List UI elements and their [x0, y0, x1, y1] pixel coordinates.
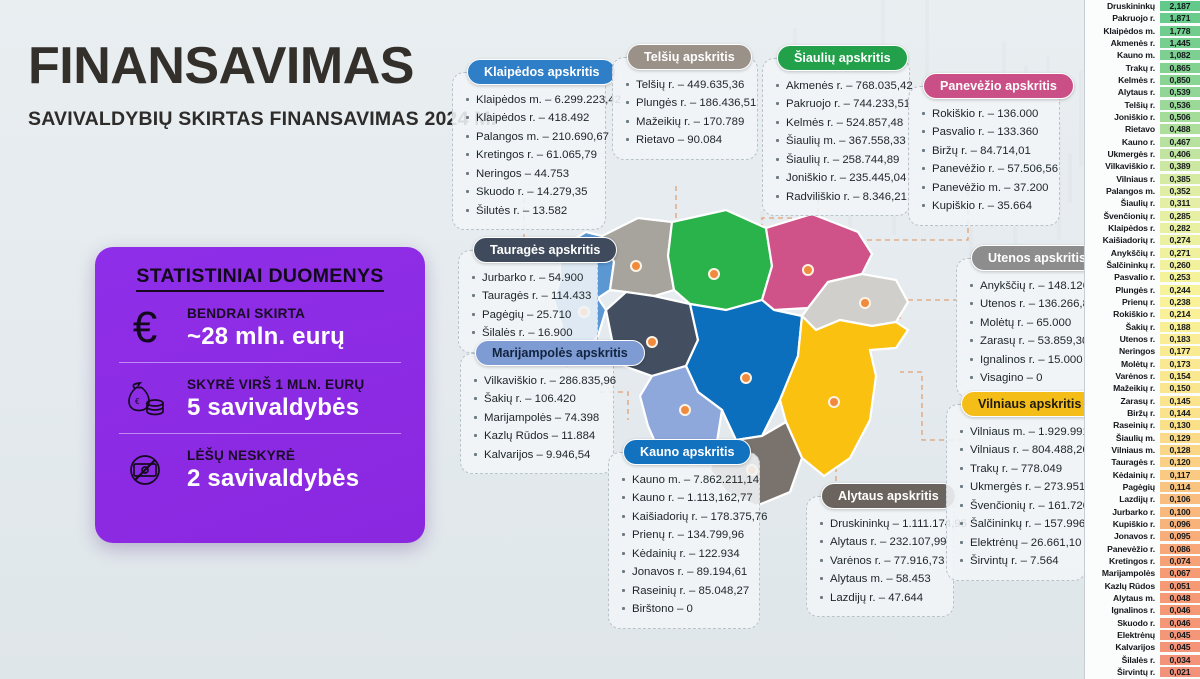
list-item: Rietavo – 90.084 [625, 131, 747, 149]
table-row[interactable]: Kauno m.1,082 [1085, 49, 1200, 61]
list-item: Kupiškio r. – 35.664 [921, 197, 1049, 215]
table-row[interactable]: Druskininkų2,187 [1085, 0, 1200, 12]
region-pill-klaipedos: Klaipėdos apskritis [467, 59, 616, 85]
table-cell-name: Utenos r. [1085, 334, 1160, 344]
list-item: Vilniaus m. – 1.929.991,93 [959, 423, 1075, 441]
table-cell-value: 0,100 [1160, 507, 1200, 517]
list-item: Pasvalio r. – 133.360 [921, 123, 1049, 141]
table-cell-value: 0,106 [1160, 494, 1200, 504]
table-cell-name: Zarasų r. [1085, 396, 1160, 406]
list-item: Kazlų Rūdos – 11.884 [473, 427, 603, 445]
table-row[interactable]: Prienų r.0,238 [1085, 296, 1200, 308]
list-item: Elektrėnų – 26.661,10 [959, 534, 1075, 552]
table-cell-value: 1,778 [1160, 26, 1200, 36]
table-cell-name: Neringos [1085, 346, 1160, 356]
table-cell-value: 0,850 [1160, 75, 1200, 85]
table-cell-name: Šakių r. [1085, 322, 1160, 332]
statistics-card: STATISTINIAI DUOMENYS € BENDRAI SKIRTA ~… [95, 247, 425, 543]
table-cell-value: 0,045 [1160, 642, 1200, 652]
table-cell-name: Trakų r. [1085, 63, 1160, 73]
table-row[interactable]: Trakų r.0,865 [1085, 62, 1200, 74]
table-row[interactable]: Ignalinos r.0,046 [1085, 604, 1200, 616]
table-row[interactable]: Biržų r.0,144 [1085, 407, 1200, 419]
table-cell-value: 0,311 [1160, 198, 1200, 208]
region-pill-alytaus: Alytaus apskritis [821, 483, 956, 509]
list-item: Ukmergės r. – 273.951 [959, 478, 1075, 496]
list-item: Palangos m. – 210.690,67 [465, 128, 595, 146]
table-cell-value: 0,045 [1160, 630, 1200, 640]
region-pill-telsiu: Telšių apskritis [627, 44, 752, 70]
table-row[interactable]: Palangos m.0,352 [1085, 185, 1200, 197]
table-row[interactable]: Anykščių r.0,271 [1085, 247, 1200, 259]
table-cell-name: Kėdainių r. [1085, 470, 1160, 480]
list-item: Šiaulių m. – 367.558,33 [775, 132, 899, 150]
table-row[interactable]: Vilniaus m.0,128 [1085, 444, 1200, 456]
table-cell-name: Rietavo [1085, 124, 1160, 134]
table-cell-value: 0,282 [1160, 223, 1200, 233]
list-item: Šalčininkų r. – 157.996,29 [959, 515, 1075, 533]
table-cell-value: 0,488 [1160, 124, 1200, 134]
list-item: Alytaus r. – 232.107,99 [819, 533, 943, 551]
ranking-table[interactable]: Druskininkų2,187Pakruojo r.1,871Klaipėdo… [1084, 0, 1200, 679]
table-cell-value: 0,285 [1160, 211, 1200, 221]
list-item: Druskininkų – 1.111.174,95 [819, 515, 943, 533]
table-row[interactable]: Varėnos r.0,154 [1085, 370, 1200, 382]
stat-text: SKYRĖ VIRŠ 1 MLN. EURŲ 5 savivaldybės [187, 377, 403, 422]
table-cell-name: Kelmės r. [1085, 75, 1160, 85]
list-item: Marijampolės – 74.398 [473, 409, 603, 427]
table-cell-value: 0,120 [1160, 457, 1200, 467]
table-cell-name: Kaišiadorių r. [1085, 235, 1160, 245]
list-item: Neringos – 44.753 [465, 165, 595, 183]
table-row[interactable]: Švenčionių r.0,285 [1085, 210, 1200, 222]
table-cell-value: 0,051 [1160, 581, 1200, 591]
table-cell-value: 0,096 [1160, 519, 1200, 529]
table-cell-value: 1,082 [1160, 50, 1200, 60]
table-row[interactable]: Širvintų r.0,021 [1085, 666, 1200, 678]
table-row[interactable]: Pakruojo r.1,871 [1085, 12, 1200, 24]
list-item: Skuodo r. – 14.279,35 [465, 183, 595, 201]
list-item: Jurbarko r. – 54.900 [471, 269, 587, 287]
table-cell-value: 0,150 [1160, 383, 1200, 393]
region-list: Akmenės r. – 768.035,42 Pakruojo r. – 74… [775, 77, 899, 206]
table-cell-name: Vilniaus m. [1085, 445, 1160, 455]
list-item: Jonavos r. – 89.194,61 [621, 563, 749, 581]
table-cell-value: 0,048 [1160, 593, 1200, 603]
list-item: Šiaulių r. – 258.744,89 [775, 151, 899, 169]
table-cell-value: 0,095 [1160, 531, 1200, 541]
table-cell-name: Pakruojo r. [1085, 13, 1160, 23]
list-item: Akmenės r. – 768.035,42 [775, 77, 899, 95]
region-card-alytaus[interactable]: Alytaus apskritis Druskininkų – 1.111.17… [806, 496, 954, 617]
list-item: Telšių r. – 449.635,36 [625, 76, 747, 94]
list-item: Šakių r. – 106.420 [473, 390, 603, 408]
table-cell-name: Alytaus r. [1085, 87, 1160, 97]
region-card-telsiu[interactable]: Telšių apskritis Telšių r. – 449.635,36 … [612, 57, 758, 160]
table-cell-name: Šalčininkų r. [1085, 260, 1160, 270]
table-row[interactable]: Plungės r.0,244 [1085, 284, 1200, 296]
table-cell-value: 0,260 [1160, 260, 1200, 270]
table-cell-value: 0,214 [1160, 309, 1200, 319]
table-cell-value: 0,067 [1160, 568, 1200, 578]
table-cell-name: Elektrėnų [1085, 630, 1160, 640]
table-row[interactable]: Kauno r.0,467 [1085, 136, 1200, 148]
list-item: Birštono – 0 [621, 600, 749, 618]
table-row[interactable]: Tauragės r.0,120 [1085, 456, 1200, 468]
list-item: Varėnos r. – 77.916,73 [819, 552, 943, 570]
stat-label: BENDRAI SKIRTA [187, 306, 403, 321]
table-cell-name: Tauragės r. [1085, 457, 1160, 467]
table-cell-value: 0,406 [1160, 149, 1200, 159]
stat-text: BENDRAI SKIRTA ~28 mln. eurų [187, 306, 403, 351]
table-row[interactable]: Šiaulių r.0,311 [1085, 197, 1200, 209]
list-item: Kauno m. – 7.862.211,14 [621, 471, 749, 489]
table-cell-name: Kupiškio r. [1085, 519, 1160, 529]
map-dot-vilniaus [829, 397, 839, 407]
table-cell-name: Marijampolės [1085, 568, 1160, 578]
region-card-utenos[interactable]: Utenos apskritis Anykščių r. – 148.126 U… [956, 258, 1088, 398]
table-cell-name: Rokiškio r. [1085, 309, 1160, 319]
table-row[interactable]: Vilniaus r.0,385 [1085, 173, 1200, 185]
list-item: Tauragės r. – 114.433 [471, 287, 587, 305]
table-row[interactable]: Šiaulių m.0,129 [1085, 431, 1200, 443]
table-cell-name: Druskininkų [1085, 1, 1160, 11]
region-pill-panevezio: Panevėžio apskritis [923, 73, 1074, 99]
money-bag-icon: € [117, 373, 173, 425]
list-item: Biržų r. – 84.714,01 [921, 142, 1049, 160]
list-item: Kalvarijos – 9.946,54 [473, 446, 603, 464]
region-card-klaipedos[interactable]: Klaipėdos apskritis Klaipėdos m. – 6.299… [452, 72, 606, 230]
table-row[interactable]: Rokiškio r.0,214 [1085, 308, 1200, 320]
table-row[interactable]: Joniškio r.0,506 [1085, 111, 1200, 123]
table-cell-name: Jonavos r. [1085, 531, 1160, 541]
stat-row-above-1mln: € SKYRĖ VIRŠ 1 MLN. EURŲ 5 savivaldybės [113, 363, 407, 433]
region-pill-marijampoles: Marijampolės apskritis [475, 340, 645, 366]
table-row[interactable]: Kelmės r.0,850 [1085, 74, 1200, 86]
stat-row-no-funding: LĖŠŲ NESKYRĖ 2 savivaldybės [113, 434, 407, 504]
map-dot-siauliu [709, 269, 719, 279]
table-cell-name: Telšių r. [1085, 100, 1160, 110]
table-cell-value: 0,188 [1160, 322, 1200, 332]
table-row[interactable]: Pagėgių0,114 [1085, 481, 1200, 493]
table-row[interactable]: Elektrėnų0,045 [1085, 629, 1200, 641]
stat-label: SKYRĖ VIRŠ 1 MLN. EURŲ [187, 377, 403, 392]
list-item: Rokiškio r. – 136.000 [921, 105, 1049, 123]
region-list: Klaipėdos m. – 6.299.223,42 Klaipėdos r.… [465, 91, 595, 220]
stat-label: LĖŠŲ NESKYRĖ [187, 448, 403, 463]
list-item: Prienų r. – 134.799,96 [621, 526, 749, 544]
table-row[interactable]: Kazlų Rūdos0,051 [1085, 579, 1200, 591]
map-dot-telsiu [631, 261, 641, 271]
table-cell-name: Kauno r. [1085, 137, 1160, 147]
table-cell-name: Akmenės r. [1085, 38, 1160, 48]
list-item: Klaipėdos r. – 418.492 [465, 109, 595, 127]
table-cell-name: Plungės r. [1085, 285, 1160, 295]
table-cell-name: Jurbarko r. [1085, 507, 1160, 517]
region-pill-kauno: Kauno apskritis [623, 439, 751, 465]
table-cell-name: Ignalinos r. [1085, 605, 1160, 615]
stat-value: 5 savivaldybės [187, 394, 403, 422]
table-cell-value: 0,244 [1160, 285, 1200, 295]
list-item: Ignalinos r. – 15.000 [969, 351, 1077, 369]
list-item: Kaišiadorių r. – 178.375,76 [621, 508, 749, 526]
table-cell-value: 0,114 [1160, 482, 1200, 492]
table-cell-value: 0,046 [1160, 605, 1200, 615]
table-cell-name: Ukmergės r. [1085, 149, 1160, 159]
table-cell-value: 0,173 [1160, 359, 1200, 369]
table-cell-value: 1,445 [1160, 38, 1200, 48]
table-cell-value: 0,117 [1160, 470, 1200, 480]
table-row[interactable]: Akmenės r.1,445 [1085, 37, 1200, 49]
table-row[interactable]: Skuodo r.0,046 [1085, 616, 1200, 628]
region-list: Anykščių r. – 148.126 Utenos r. – 136.26… [969, 277, 1077, 388]
table-row[interactable]: Kupiškio r.0,096 [1085, 518, 1200, 530]
stat-value: ~28 mln. eurų [187, 323, 403, 351]
table-row[interactable]: Raseinių r.0,130 [1085, 419, 1200, 431]
table-row[interactable]: Jonavos r.0,095 [1085, 530, 1200, 542]
list-item: Utenos r. – 136.266,80 [969, 295, 1077, 313]
table-cell-value: 0,130 [1160, 420, 1200, 430]
table-cell-name: Pagėgių [1085, 482, 1160, 492]
table-cell-name: Švenčionių r. [1085, 211, 1160, 221]
list-item: Joniškio r. – 235.445,04 [775, 169, 899, 187]
table-cell-value: 0,389 [1160, 161, 1200, 171]
table-row[interactable]: Telšių r.0,536 [1085, 99, 1200, 111]
region-pill-siauliu: Šiaulių apskritis [777, 45, 908, 71]
list-item: Šilutės r. – 13.582 [465, 202, 595, 220]
stat-value: 2 savivaldybės [187, 465, 403, 493]
list-item: Plungės r. – 186.436,51 [625, 94, 747, 112]
table-cell-value: 2,187 [1160, 1, 1200, 11]
table-cell-value: 0,128 [1160, 445, 1200, 455]
region-card-vilniaus[interactable]: Vilniaus apskritis Vilniaus m. – 1.929.9… [946, 404, 1086, 581]
list-item: Alytaus m. – 58.453 [819, 570, 943, 588]
table-row[interactable]: Vilkaviškio r.0,389 [1085, 160, 1200, 172]
list-item: Švenčionių r. – 161.720 [959, 497, 1075, 515]
region-pill-taurages: Tauragės apskritis [473, 237, 617, 263]
page-subtitle: SAVIVALDYBIŲ SKIRTAS FINANSAVIMAS 2024 M… [28, 108, 496, 131]
list-item: Klaipėdos m. – 6.299.223,42 [465, 91, 595, 109]
list-item: Raseinių r. – 85.048,27 [621, 582, 749, 600]
table-cell-value: 0,086 [1160, 544, 1200, 554]
table-cell-name: Kazlų Rūdos [1085, 581, 1160, 591]
table-cell-name: Mažeikių r. [1085, 383, 1160, 393]
list-item: Trakų r. – 778.049 [959, 460, 1075, 478]
table-cell-value: 0,271 [1160, 248, 1200, 258]
stat-row-total: € BENDRAI SKIRTA ~28 mln. eurų [113, 292, 407, 362]
table-cell-value: 0,177 [1160, 346, 1200, 356]
list-item: Pakruojo r. – 744.233,51 [775, 95, 899, 113]
list-item: Zarasų r. – 53.859,30 [969, 332, 1077, 350]
table-cell-name: Šiaulių m. [1085, 433, 1160, 443]
list-item: Visagino – 0 [969, 369, 1077, 387]
map-dot-panevezio [803, 265, 813, 275]
table-row[interactable]: Kaišiadorių r.0,274 [1085, 234, 1200, 246]
region-list: Rokiškio r. – 136.000 Pasvalio r. – 133.… [921, 105, 1049, 216]
table-row[interactable]: Rietavo0,488 [1085, 123, 1200, 135]
table-cell-name: Anykščių r. [1085, 248, 1160, 258]
region-list: Kauno m. – 7.862.211,14 Kauno r. – 1.113… [621, 471, 749, 619]
table-cell-name: Šiaulių r. [1085, 198, 1160, 208]
table-row[interactable]: Kalvarijos0,045 [1085, 641, 1200, 653]
list-item: Lazdijų r. – 47.644 [819, 589, 943, 607]
table-cell-value: 0,074 [1160, 556, 1200, 566]
map-dot-utenos [860, 298, 870, 308]
statistics-title: STATISTINIAI DUOMENYS [136, 265, 383, 292]
list-item: Anykščių r. – 148.126 [969, 277, 1077, 295]
table-cell-name: Kretingos r. [1085, 556, 1160, 566]
map-region-siauliu [668, 210, 772, 310]
page-title: FINANSAVIMAS [28, 40, 496, 92]
region-card-marijampoles[interactable]: Marijampolės apskritis Vilkaviškio r. – … [460, 353, 614, 474]
region-list: Jurbarko r. – 54.900 Tauragės r. – 114.4… [471, 269, 587, 343]
table-row[interactable]: Šakių r.0,188 [1085, 321, 1200, 333]
list-item: Molėtų r. – 65.000 [969, 314, 1077, 332]
table-row[interactable]: Pasvalio r.0,253 [1085, 271, 1200, 283]
table-cell-name: Raseinių r. [1085, 420, 1160, 430]
table-cell-value: 0,865 [1160, 63, 1200, 73]
table-row[interactable]: Šilalės r.0,034 [1085, 653, 1200, 665]
table-cell-value: 0,144 [1160, 408, 1200, 418]
table-cell-name: Klaipėdos m. [1085, 26, 1160, 36]
table-cell-name: Kauno m. [1085, 50, 1160, 60]
table-cell-name: Lazdijų r. [1085, 494, 1160, 504]
map-dot-marijampoles [680, 405, 690, 415]
table-row[interactable]: Jurbarko r.0,100 [1085, 505, 1200, 517]
table-row[interactable]: Mažeikių r.0,150 [1085, 382, 1200, 394]
region-list: Druskininkų – 1.111.174,95 Alytaus r. – … [819, 515, 943, 607]
table-row[interactable]: Alytaus m.0,048 [1085, 592, 1200, 604]
background-bar [1068, 153, 1072, 203]
table-cell-name: Vilkaviškio r. [1085, 161, 1160, 171]
no-money-icon [117, 444, 173, 496]
region-card-taurages[interactable]: Tauragės apskritis Jurbarko r. – 54.900 … [458, 250, 598, 353]
table-cell-value: 0,129 [1160, 433, 1200, 443]
table-cell-name: Vilniaus r. [1085, 174, 1160, 184]
table-cell-value: 0,154 [1160, 371, 1200, 381]
table-row[interactable]: Kretingos r.0,074 [1085, 555, 1200, 567]
table-row[interactable]: Neringos0,177 [1085, 345, 1200, 357]
table-cell-value: 0,274 [1160, 235, 1200, 245]
table-cell-name: Molėtų r. [1085, 359, 1160, 369]
table-cell-name: Prienų r. [1085, 297, 1160, 307]
map-dot-kauno [741, 373, 751, 383]
table-cell-value: 0,385 [1160, 174, 1200, 184]
table-row[interactable]: Klaipėdos m.1,778 [1085, 25, 1200, 37]
table-cell-name: Skuodo r. [1085, 618, 1160, 628]
table-cell-value: 0,352 [1160, 186, 1200, 196]
table-row[interactable]: Zarasų r.0,145 [1085, 395, 1200, 407]
list-item: Širvintų r. – 7.564 [959, 552, 1075, 570]
table-cell-name: Biržų r. [1085, 408, 1160, 418]
table-row[interactable]: Lazdijų r.0,106 [1085, 493, 1200, 505]
table-cell-value: 0,021 [1160, 667, 1200, 677]
table-cell-name: Pasvalio r. [1085, 272, 1160, 282]
table-cell-value: 0,536 [1160, 100, 1200, 110]
table-cell-value: 0,183 [1160, 334, 1200, 344]
region-list: Vilniaus m. – 1.929.991,93 Vilniaus r. –… [959, 423, 1075, 571]
table-row[interactable]: Utenos r.0,183 [1085, 333, 1200, 345]
table-row[interactable]: Molėtų r.0,173 [1085, 358, 1200, 370]
table-row[interactable]: Šalčininkų r.0,260 [1085, 259, 1200, 271]
region-list: Vilkaviškio r. – 286.835,96 Šakių r. – 1… [473, 372, 603, 464]
table-cell-value: 0,539 [1160, 87, 1200, 97]
list-item: Panevėžio r. – 57.506,56 [921, 160, 1049, 178]
table-cell-name: Alytaus m. [1085, 593, 1160, 603]
table-cell-name: Kalvarijos [1085, 642, 1160, 652]
list-item: Radviliškio r. – 8.346,21 [775, 188, 899, 206]
region-pill-vilniaus: Vilniaus apskritis [961, 391, 1098, 417]
list-item: Pagėgių – 25.710 [471, 306, 587, 324]
header: FINANSAVIMAS SAVIVALDYBIŲ SKIRTAS FINANS… [28, 40, 496, 131]
list-item: Vilkaviškio r. – 286.835,96 [473, 372, 603, 390]
euro-icon: € [117, 302, 173, 354]
table-row[interactable]: Marijampolės0,067 [1085, 567, 1200, 579]
table-cell-value: 0,145 [1160, 396, 1200, 406]
table-row[interactable]: Klaipėdos r.0,282 [1085, 222, 1200, 234]
table-cell-name: Palangos m. [1085, 186, 1160, 196]
list-item: Mažeikių r. – 170.789 [625, 113, 747, 131]
table-row[interactable]: Alytaus r.0,539 [1085, 86, 1200, 98]
table-cell-value: 1,871 [1160, 13, 1200, 23]
table-cell-name: Varėnos r. [1085, 371, 1160, 381]
table-cell-name: Panevėžio r. [1085, 544, 1160, 554]
table-cell-name: Širvintų r. [1085, 667, 1160, 677]
list-item: Kauno r. – 1.113,162,77 [621, 489, 749, 507]
svg-text:€: € [135, 397, 140, 406]
list-item: Kelmės r. – 524.857,48 [775, 114, 899, 132]
table-cell-value: 0,238 [1160, 297, 1200, 307]
region-card-kauno[interactable]: Kauno apskritis Kauno m. – 7.862.211,14 … [608, 452, 760, 629]
table-row[interactable]: Ukmergės r.0,406 [1085, 148, 1200, 160]
table-cell-name: Klaipėdos r. [1085, 223, 1160, 233]
infographic-root: FINANSAVIMAS SAVIVALDYBIŲ SKIRTAS FINANS… [0, 0, 1200, 679]
table-row[interactable]: Panevėžio r.0,086 [1085, 542, 1200, 554]
table-cell-value: 0,467 [1160, 137, 1200, 147]
list-item: Panevėžio m. – 37.200 [921, 179, 1049, 197]
table-cell-value: 0,253 [1160, 272, 1200, 282]
list-item: Vilniaus r. – 804.488,20 [959, 441, 1075, 459]
map-dot-taurages [647, 337, 657, 347]
table-cell-name: Joniškio r. [1085, 112, 1160, 122]
table-cell-value: 0,034 [1160, 655, 1200, 665]
table-cell-value: 0,506 [1160, 112, 1200, 122]
table-row[interactable]: Kėdainių r.0,117 [1085, 468, 1200, 480]
statistics-title-wrap: STATISTINIAI DUOMENYS [113, 261, 407, 292]
background-bar [1079, 70, 1083, 166]
region-card-panevezio[interactable]: Panevėžio apskritis Rokiškio r. – 136.00… [908, 86, 1060, 226]
table-cell-value: 0,046 [1160, 618, 1200, 628]
region-list: Telšių r. – 449.635,36 Plungės r. – 186.… [625, 76, 747, 150]
stat-text: LĖŠŲ NESKYRĖ 2 savivaldybės [187, 448, 403, 493]
list-item: Kėdainių r. – 122.934 [621, 545, 749, 563]
list-item: Kretingos r. – 61.065,79 [465, 146, 595, 164]
table-cell-name: Šilalės r. [1085, 655, 1160, 665]
region-card-siauliu[interactable]: Šiaulių apskritis Akmenės r. – 768.035,4… [762, 58, 910, 216]
